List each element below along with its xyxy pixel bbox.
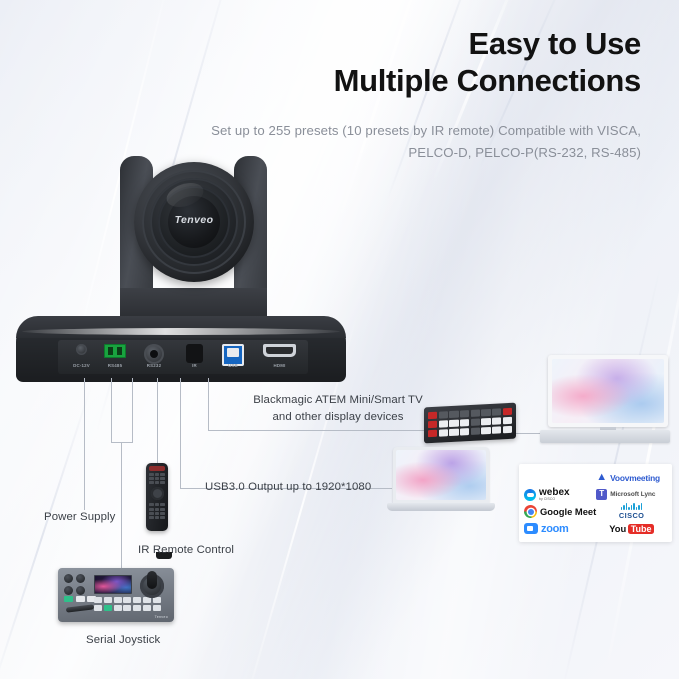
microsoft-lync-label: Microsoft Lync	[610, 491, 655, 498]
zoom-icon	[524, 523, 538, 534]
camera-head: Tenveo	[134, 162, 254, 282]
zoom-label: zoom	[541, 523, 569, 535]
webex-sublabel: by CISCO	[539, 498, 570, 502]
microsoft-lync-icon	[596, 489, 607, 500]
atem-key	[428, 430, 437, 437]
remote-navigation-pad	[151, 487, 164, 500]
background-streak	[0, 388, 91, 679]
joystick-knob	[64, 574, 73, 583]
serial-joystick-controller: Tenveo	[58, 568, 174, 622]
remote-button	[149, 503, 154, 506]
ir-receiver-port[interactable]	[186, 344, 203, 363]
connector-rs485	[111, 378, 112, 442]
remote-button	[149, 473, 154, 476]
atem-key	[471, 418, 480, 425]
cisco-mark: CISCO	[619, 503, 644, 520]
remote-button	[155, 503, 160, 506]
monitor-screen	[552, 359, 664, 423]
infographic-canvas: Easy to Use Multiple Connections Set up …	[0, 0, 679, 679]
camera-brand-logo: Tenveo	[134, 214, 254, 226]
hdmi-port-label: HDMI	[261, 363, 298, 368]
joystick-key	[153, 605, 161, 611]
atem-key	[428, 412, 437, 419]
remote-button	[155, 477, 160, 480]
connector-hdmi-down	[208, 378, 209, 430]
joystick-key	[94, 605, 102, 611]
ir-remote-control	[146, 463, 168, 531]
remote-button	[160, 481, 165, 484]
joystick-key	[123, 605, 131, 611]
headline-line-1: Easy to Use	[334, 26, 641, 63]
remote-button	[155, 473, 160, 476]
usb-port-label: USB	[216, 363, 250, 368]
software-logo-grid: ▲ Voovmeeting webex by CISCO Microsoft L…	[524, 469, 667, 537]
remote-button	[160, 516, 165, 519]
joystick-key	[153, 597, 161, 603]
ir-receiver-port-label: IR	[178, 363, 211, 368]
joystick-key	[123, 597, 131, 603]
remote-button	[149, 516, 154, 519]
atem-key	[503, 426, 512, 433]
atem-key	[481, 418, 490, 425]
atem-key	[449, 420, 458, 427]
compatible-software-panel: ▲ Voovmeeting webex by CISCO Microsoft L…	[519, 464, 672, 542]
chrome-icon	[524, 505, 537, 518]
camera-base-chrome-strip	[22, 328, 340, 335]
remote-button	[149, 477, 154, 480]
atem-key	[503, 408, 512, 415]
remote-button	[160, 503, 165, 506]
google-meet-label: Google Meet	[540, 506, 596, 517]
ir-remote-label: IR Remote Control	[138, 544, 234, 556]
remote-button	[155, 508, 160, 511]
atem-key	[460, 410, 469, 417]
hdmi-port[interactable]	[263, 344, 296, 357]
monitor-body	[548, 355, 668, 427]
joystick-brand-logo: Tenveo	[155, 615, 168, 619]
atem-key	[492, 408, 501, 415]
joystick-knob	[64, 586, 73, 595]
camera-base: DC-12V RS485 RS232 IR USB HDMI	[16, 316, 346, 382]
joystick-keypad	[94, 597, 161, 611]
atem-key	[439, 411, 448, 418]
rs485-port-label: RS485	[97, 363, 133, 368]
remote-button	[155, 481, 160, 484]
joystick-function-keys	[64, 596, 96, 602]
joystick-key	[104, 597, 112, 603]
connector-hdmi-across	[208, 430, 430, 431]
atem-key	[471, 409, 480, 416]
rs232-port[interactable]	[144, 344, 164, 364]
display-devices-label: Blackmagic ATEM Mini/Smart TV and other …	[248, 392, 428, 425]
remote-button	[160, 508, 165, 511]
joystick-knob	[76, 586, 85, 595]
joystick-key	[114, 597, 122, 603]
connector-power	[84, 378, 85, 510]
remote-button	[149, 508, 154, 511]
remote-button	[149, 512, 154, 515]
zoom-logo: zoom	[524, 523, 596, 535]
connector-serial-merge	[111, 442, 133, 443]
joystick-knob	[76, 574, 85, 583]
atem-key	[492, 426, 501, 433]
joystick-function-key	[64, 596, 73, 602]
joystick-microphone	[66, 604, 94, 612]
keyboard	[540, 430, 670, 443]
usb-output-label: USB3.0 Output up to 1920*1080	[205, 481, 371, 493]
atem-key	[503, 417, 512, 424]
rs232-port-label: RS232	[136, 363, 172, 368]
dc-power-port[interactable]	[76, 344, 87, 355]
remote-button	[155, 512, 160, 515]
headline-block: Easy to Use Multiple Connections	[334, 26, 641, 99]
headline-line-2: Multiple Connections	[334, 63, 641, 100]
webex-icon	[524, 489, 536, 501]
joystick-preview-screen	[94, 575, 132, 594]
remote-button	[160, 512, 165, 515]
joystick-key	[133, 597, 141, 603]
atem-key	[460, 428, 469, 435]
atem-key	[481, 409, 490, 416]
laptop-lid	[393, 447, 489, 503]
camera-port-panel: DC-12V RS485 RS232 IR USB HDMI	[58, 340, 308, 374]
remote-button-grid	[149, 503, 165, 519]
remote-button	[155, 516, 160, 519]
joystick-function-key	[76, 596, 85, 602]
joystick-key	[143, 605, 151, 611]
atem-key	[471, 427, 480, 434]
remote-button	[149, 481, 154, 484]
google-meet-logo: Google Meet	[524, 505, 596, 518]
connector-ir	[157, 378, 158, 466]
cisco-label: CISCO	[619, 511, 644, 520]
laptop-screen	[396, 450, 486, 500]
power-supply-label: Power Supply	[44, 511, 115, 523]
youtube-label: You	[609, 523, 626, 534]
atem-key	[449, 429, 458, 436]
laptop-deck	[387, 503, 495, 511]
ptz-camera: Tenveo DC-12V RS485 RS232 IR USB HDMI	[16, 140, 346, 385]
rs485-port[interactable]	[104, 344, 126, 358]
voovmeeting-logo: ▲ Voovmeeting	[596, 472, 667, 483]
atem-key	[428, 421, 437, 428]
serial-joystick-label: Serial Joystick	[86, 634, 160, 646]
dc-power-port-label: DC-12V	[64, 363, 99, 368]
atem-key	[449, 411, 458, 418]
joystick-key	[133, 605, 141, 611]
connector-serial-down	[121, 442, 122, 574]
voovmeeting-icon: ▲	[596, 472, 607, 483]
joystick-key	[114, 605, 122, 611]
remote-button-grid	[149, 473, 165, 484]
cisco-logo: CISCO	[596, 503, 667, 520]
voovmeeting-label: Voovmeeting	[610, 473, 660, 483]
remote-button	[160, 477, 165, 480]
remote-button	[160, 473, 165, 476]
atem-key	[439, 420, 448, 427]
cisco-bars-icon	[621, 503, 642, 510]
microsoft-lync-logo: Microsoft Lync	[596, 489, 667, 500]
connector-usb-down	[180, 378, 181, 488]
joystick-knobs	[64, 574, 85, 595]
atem-key	[460, 419, 469, 426]
atem-key	[481, 427, 490, 434]
youtube-badge: Tube	[628, 524, 654, 534]
laptop	[387, 447, 495, 517]
atem-key	[439, 429, 448, 436]
joystick-key	[94, 597, 102, 603]
remote-indicator	[149, 466, 165, 471]
atem-key	[492, 417, 501, 424]
atem-button-rows	[428, 408, 512, 439]
joystick-key	[104, 605, 112, 611]
webex-logo: webex by CISCO	[524, 488, 596, 502]
connector-rs232	[132, 378, 133, 442]
blackmagic-atem-mini-switcher	[424, 403, 516, 444]
youtube-logo: You Tube	[596, 523, 667, 534]
joystick-stick	[140, 574, 164, 598]
